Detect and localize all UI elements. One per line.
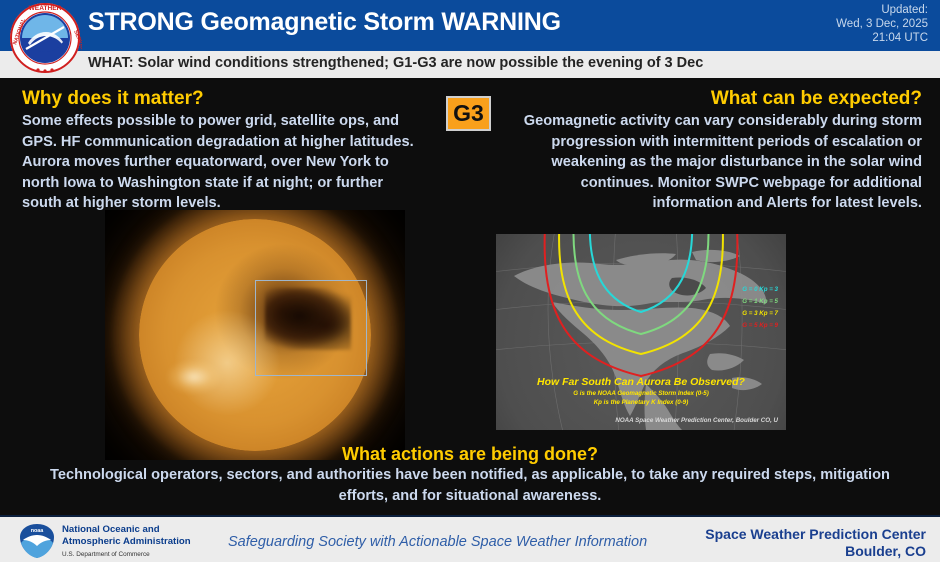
aurora-map-credit: NOAA Space Weather Prediction Center, Bo… <box>615 417 778 424</box>
why-body: Some effects possible to power grid, sat… <box>22 111 422 214</box>
aurora-map-title: How Far South Can Aurora Be Observed? <box>496 376 786 388</box>
aurora-legend-g5: G = 5 Kp = 9 <box>742 322 778 329</box>
updated-label: Updated: <box>836 3 928 17</box>
aurora-legend-g0: G = 0 Kp = 3 <box>742 286 778 293</box>
aurora-oval-g3 <box>559 234 723 354</box>
page-title: STRONG Geomagnetic Storm WARNING <box>88 8 561 37</box>
noaa-department: U.S. Department of Commerce <box>62 549 191 561</box>
aurora-extent-map: G = 0 Kp = 3 G = 1 Kp = 5 G = 3 Kp = 7 G… <box>496 234 786 430</box>
expected-section: What can be expected? Geomagnetic activi… <box>510 88 922 214</box>
updated-date: Wed, 3 Dec, 2025 <box>836 17 928 31</box>
updated-timestamp: Updated: Wed, 3 Dec, 2025 21:04 UTC <box>836 3 928 45</box>
swpc-attribution: Space Weather Prediction Center Boulder,… <box>705 526 926 560</box>
actions-heading: What actions are being done? <box>0 444 940 465</box>
swpc-location: Boulder, CO <box>705 543 926 560</box>
expected-body: Geomagnetic activity can vary considerab… <box>510 111 922 214</box>
active-region-bright-spot <box>167 360 221 394</box>
why-section: Why does it matter? Some effects possibl… <box>22 88 422 214</box>
swpc-name: Space Weather Prediction Center <box>705 526 926 543</box>
aurora-oval-g0 <box>590 234 692 312</box>
aurora-map-subtitle-g: G is the NOAA Geomagnetic Storm Index (0… <box>496 390 786 397</box>
aurora-oval-g1 <box>573 234 708 334</box>
sun-euv-image <box>105 210 405 460</box>
why-heading: Why does it matter? <box>22 88 422 110</box>
storm-scale-badge: G3 <box>446 96 491 131</box>
expected-heading: What can be expected? <box>510 88 922 110</box>
what-statement: WHAT: Solar wind conditions strengthened… <box>88 55 703 71</box>
national-weather-service-seal-icon: WEATHER NATIONAL SERVICE <box>8 1 82 75</box>
svg-text:WEATHER: WEATHER <box>29 5 62 12</box>
footer-tagline: Safeguarding Society with Actionable Spa… <box>228 534 647 550</box>
aurora-map-subtitle-kp: Kp is the Planetary K Index (0-9) <box>496 399 786 406</box>
noaa-line-1: National Oceanic and <box>62 524 191 536</box>
aurora-legend-g1: G = 1 Kp = 5 <box>742 298 778 305</box>
aurora-legend-g3: G = 3 Kp = 7 <box>742 310 778 317</box>
noaa-logo-icon: noaa <box>18 523 56 559</box>
svg-text:noaa: noaa <box>31 528 45 534</box>
actions-body: Technological operators, sectors, and au… <box>40 465 900 507</box>
actions-section: What actions are being done? Technologic… <box>0 444 940 507</box>
footer-bar: noaa National Oceanic and Atmospheric Ad… <box>0 515 940 562</box>
updated-time: 21:04 UTC <box>836 31 928 45</box>
noaa-line-2: Atmospheric Administration <box>62 536 191 548</box>
coronal-hole-highlight-box <box>255 280 367 376</box>
space-weather-alert-graphic: WEATHER NATIONAL SERVICE STRONG Geomagne… <box>0 0 940 562</box>
noaa-agency-text: National Oceanic and Atmospheric Adminis… <box>62 524 191 561</box>
